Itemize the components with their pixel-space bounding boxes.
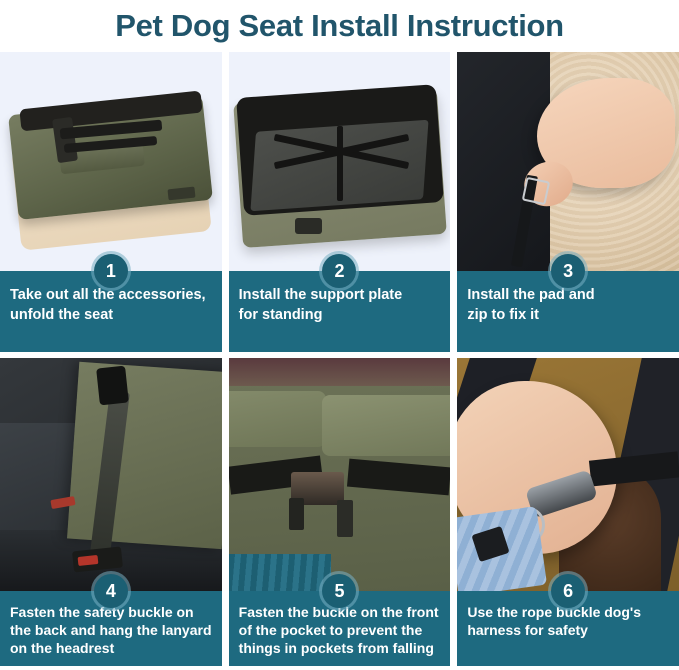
step-1-caption-line-2: unfold the seat (10, 306, 212, 326)
step-number-badge-5: 5 (322, 574, 356, 608)
folded-seat-illustration (0, 52, 222, 271)
step-5-photo (229, 358, 451, 591)
pocket-flap-left-shape (229, 391, 327, 447)
poster-header: Pet Dog Seat Install Instruction (0, 0, 679, 52)
strap-hook-shape (96, 366, 129, 406)
steps-grid: 1 Take out all the accessories, unfold t… (0, 52, 679, 666)
step-4-caption-line-3: on the headrest (10, 639, 212, 657)
step-number-badge-3: 3 (551, 254, 585, 288)
teal-surface-region (229, 554, 331, 591)
support-strap-center (337, 126, 343, 200)
zipper-hand-illustration (457, 52, 679, 271)
step-card-3: 3 Install the pad and zip to fix it (457, 52, 679, 352)
step-5-caption-line-3: things in pockets from falling (239, 639, 441, 657)
step-1-photo (0, 52, 222, 271)
step-number-badge-2: 2 (322, 254, 356, 288)
step-4-photo (0, 358, 222, 591)
step-1-caption-line-1: Take out all the accessories, (10, 286, 212, 306)
background-blur-region (229, 358, 451, 386)
step-number-badge-6: 6 (551, 574, 585, 608)
step-card-2: 2 Install the support plate for standing (229, 52, 451, 352)
instruction-poster: Pet Dog Seat Install Instruction 1 Take … (0, 0, 679, 670)
pet-seat-side-shape (67, 362, 222, 549)
rope-buckle-illustration (457, 358, 679, 591)
step-2-caption-line-2: for standing (239, 306, 441, 326)
step-card-1: 1 Take out all the accessories, unfold t… (0, 52, 222, 352)
step-card-5: 5 Fasten the buckle on the front of the … (229, 358, 451, 666)
pocket-buckle-illustration (229, 358, 451, 591)
zipper-pull-shape (522, 177, 550, 205)
step-4-caption-line-2: the back and hang the lanyard (10, 621, 212, 639)
step-card-4: 4 Fasten the safety buckle on the back a… (0, 358, 222, 666)
step-5-caption-line-2: of the pocket to prevent the (239, 621, 441, 639)
safety-buckle-illustration (0, 358, 222, 591)
step-6-caption-line-2: harness for safety (467, 621, 669, 639)
buckle-tab-right-shape (337, 500, 353, 537)
step-6-photo (457, 358, 679, 591)
step-2-caption-line-1: Install the support plate (239, 286, 441, 306)
step-3-caption-line-2: zip to fix it (467, 306, 669, 326)
pocket-flap-right-shape (322, 395, 451, 456)
step-number-badge-4: 4 (94, 574, 128, 608)
step-number-badge-1: 1 (94, 254, 128, 288)
buckle-tab-left-shape (289, 498, 305, 531)
step-card-6: 6 Use the rope buckle dog's harness for … (457, 358, 679, 666)
step-2-photo (229, 52, 451, 271)
box-buckle-shape (295, 218, 322, 233)
open-box-illustration (229, 52, 451, 271)
page-title: Pet Dog Seat Install Instruction (115, 8, 564, 44)
step-3-caption-line-1: Install the pad and (467, 286, 669, 306)
step-3-photo (457, 52, 679, 271)
